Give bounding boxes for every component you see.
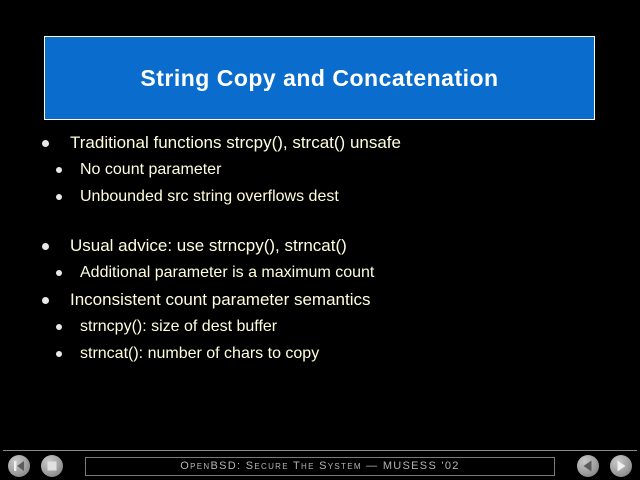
list-item: Usual advice: use strncpy(), strncat(): [0, 235, 640, 262]
slide-title-banner: String Copy and Concatenation: [44, 36, 595, 120]
list-item-label: Usual advice: use strncpy(), strncat(): [70, 235, 347, 256]
list-item-label: Traditional functions strcpy(), strcat()…: [70, 132, 401, 153]
bullet-group-spacer: [0, 213, 640, 235]
bullet-marker-icon: [42, 297, 49, 304]
list-item-label: Inconsistent count parameter semantics: [70, 289, 370, 310]
bullet-marker-icon: [56, 351, 62, 357]
nav-index-button[interactable]: [41, 455, 63, 477]
list-item: strncat(): number of chars to copy: [0, 343, 640, 370]
bullet-marker-icon: [56, 167, 62, 173]
bullet-marker-icon: [56, 270, 62, 276]
bullet-marker-icon: [56, 324, 62, 330]
nav-prev-button[interactable]: [577, 455, 599, 477]
page-title: String Copy and Concatenation: [140, 67, 498, 90]
slide-canvas: String Copy and Concatenation Traditiona…: [0, 0, 640, 480]
list-item: Inconsistent count parameter semantics: [0, 289, 640, 316]
list-item-label: strncpy(): size of dest buffer: [80, 316, 277, 337]
list-item: No count parameter: [0, 159, 640, 186]
bullet-marker-icon: [56, 194, 62, 200]
nav-first-button[interactable]: [8, 455, 30, 477]
footer-nav-right: [577, 455, 632, 477]
list-item-label: strncat(): number of chars to copy: [80, 343, 319, 364]
slide-body: Traditional functions strcpy(), strcat()…: [0, 132, 640, 370]
list-item-label: No count parameter: [80, 159, 221, 180]
list-item-label: Additional parameter is a maximum count: [80, 262, 374, 283]
next-arrow-icon: [610, 455, 632, 477]
footer-divider: [3, 450, 637, 451]
list-item: Additional parameter is a maximum count: [0, 262, 640, 289]
nav-next-button[interactable]: [610, 455, 632, 477]
stop-square-icon: [41, 455, 63, 477]
first-slide-icon: [8, 455, 30, 477]
footer-title-box: OpenBSD: Secure The System — MUSESS '02: [85, 457, 555, 476]
list-item: Unbounded src string overflows dest: [0, 186, 640, 213]
bullet-marker-icon: [42, 140, 49, 147]
prev-arrow-icon: [577, 455, 599, 477]
footer-bar: OpenBSD: Secure The System — MUSESS '02: [0, 452, 640, 480]
bullet-marker-icon: [42, 243, 49, 250]
list-item: Traditional functions strcpy(), strcat()…: [0, 132, 640, 159]
list-item-label: Unbounded src string overflows dest: [80, 186, 339, 207]
footer-nav-left: [8, 455, 63, 477]
footer-title-label: OpenBSD: Secure The System — MUSESS '02: [180, 461, 459, 472]
list-item: strncpy(): size of dest buffer: [0, 316, 640, 343]
